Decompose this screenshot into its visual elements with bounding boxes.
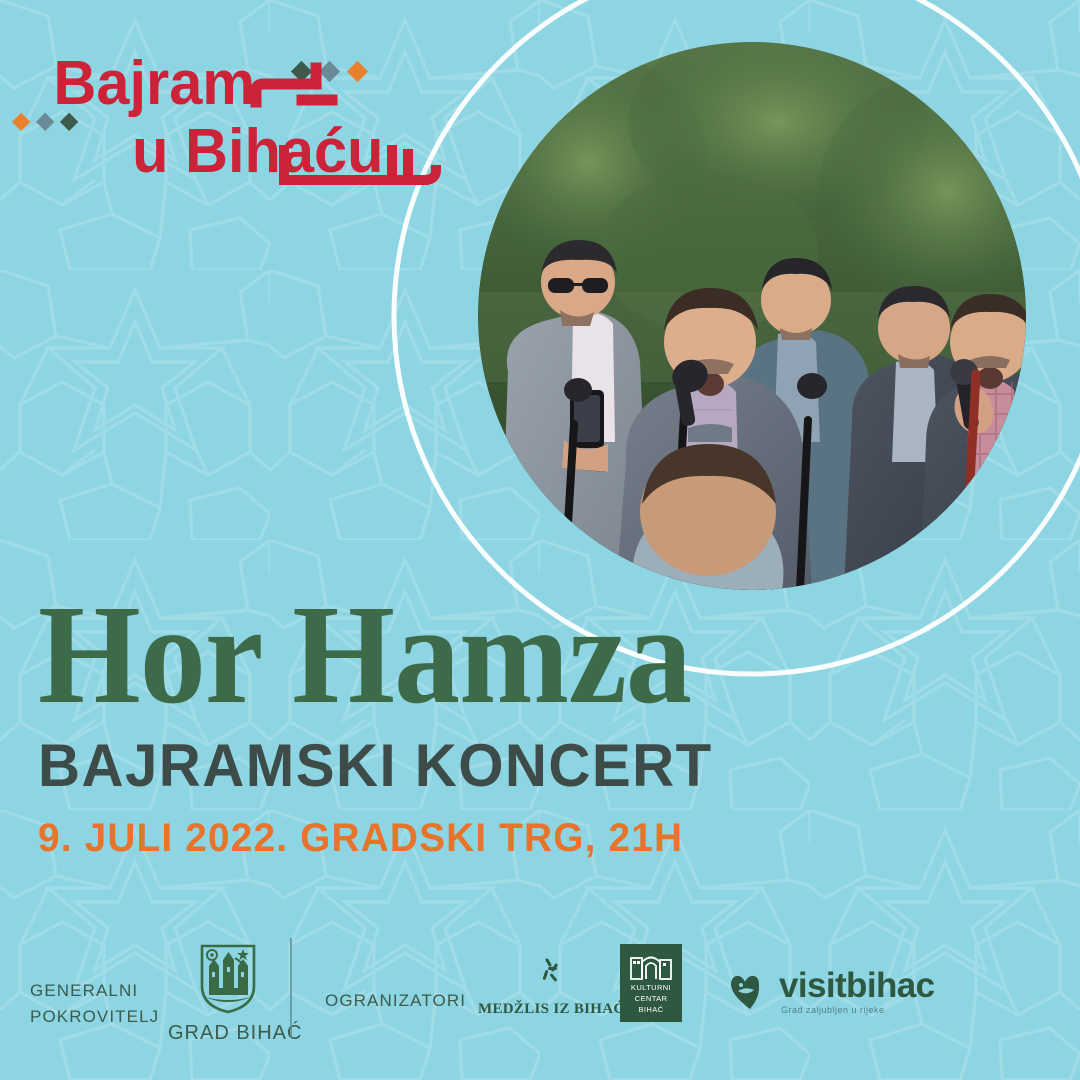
page-title: Hor Hamza	[38, 588, 949, 720]
sponsor-name: GRAD BIHAĆ	[168, 1022, 288, 1045]
organizer-kulturni-centar: KULTURNI CENTAR BIHAĆ	[620, 944, 682, 1022]
kc-line1: KULTURNI	[631, 983, 671, 994]
visit-tagline: Grad zaljubljen u rijeke	[781, 1005, 934, 1015]
cultural-center-building-icon	[630, 950, 672, 980]
sponsor-label: GENERALNI POKROVITELJ	[30, 978, 159, 1031]
event-subtitle: BAJRAMSKI KONCERT	[38, 734, 989, 797]
kc-line3: BIHAĆ	[631, 1005, 671, 1016]
brand-accent-diamonds-bottom	[12, 113, 78, 131]
brand-logo: Bajram u Bihaću	[40, 38, 440, 188]
sponsor-label-line1: GENERALNI	[30, 978, 159, 1004]
sponsor-label-line2: POKROVITELJ	[30, 1004, 159, 1030]
footer-credits: GENERALNI POKROVITELJ	[0, 920, 1080, 1080]
crescent-moon-and-star-icon	[507, 948, 569, 994]
heart-bird-icon	[730, 973, 770, 1011]
city-coat-of-arms-icon	[195, 942, 261, 1014]
kc-line2: CENTAR	[631, 994, 671, 1005]
sponsor-grad-bihac: GRAD BIHAĆ	[168, 942, 288, 1045]
visit-brand-name: visitbihac	[779, 968, 934, 1003]
organizer-medzlis: MEDŽLIS IZ BIHAĆ	[478, 948, 598, 1018]
headline-block: Hor Hamza BAJRAMSKI KONCERT 9. JULI 2022…	[38, 588, 1018, 859]
brand-line2: u Bihaću	[132, 116, 383, 185]
poster-canvas: Bajram u Bihaću	[0, 0, 1080, 1080]
event-date-venue: 9. JULI 2022. GRADSKI TRG, 21H	[38, 817, 989, 859]
choir-photo	[478, 42, 1026, 590]
organizers-label: OGRANIZATORI	[325, 988, 466, 1014]
footer-divider	[290, 938, 292, 1038]
brand-line1: Bajram	[53, 48, 255, 117]
organizer-visitbihac: visitbihac Grad zaljubljen u rijeke	[730, 968, 934, 1015]
organizer-name: MEDŽLIS IZ BIHAĆ	[478, 1001, 598, 1018]
